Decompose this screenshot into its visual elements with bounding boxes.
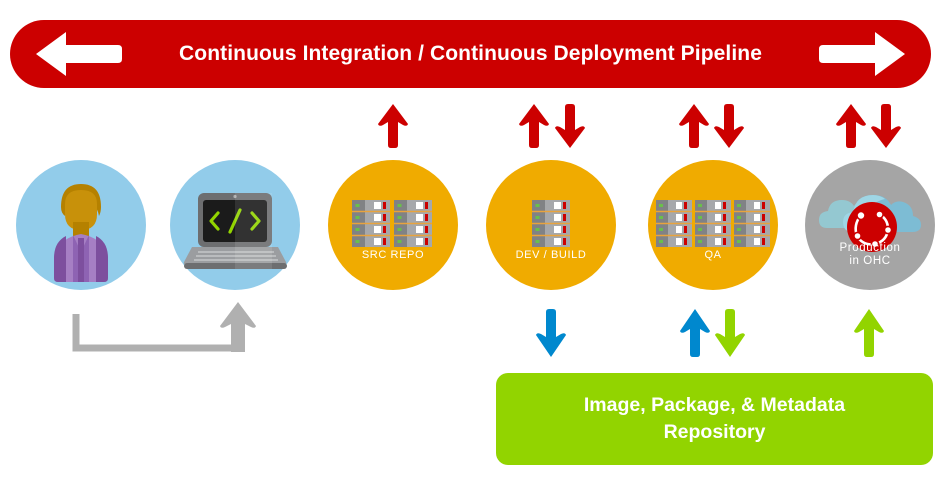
node-src-repo[interactable]: SRC REPO: [328, 160, 458, 290]
node-label-production-line2: in OHC: [805, 255, 935, 268]
node-qa[interactable]: QA: [648, 160, 778, 290]
repository-label-line1: Image, Package, & Metadata: [584, 392, 845, 419]
elbow-arrow-up-icon: [60, 300, 260, 360]
pipeline-arrow-qa-down: [713, 104, 745, 148]
node-dev-build[interactable]: DEV / BUILD: [486, 160, 616, 290]
node-label-production-line1: Production: [805, 242, 935, 255]
pipeline-arrow-dev-build-up: [518, 104, 550, 148]
cicd-pipeline-banner: Continuous Integration / Continuous Depl…: [10, 20, 931, 88]
server-rack-icon: [328, 160, 458, 290]
repo-arrow-production-up: [853, 309, 885, 357]
node-developer[interactable]: [16, 160, 146, 290]
pipeline-arrow-src-repo-up: [377, 104, 409, 148]
node-label-qa: QA: [648, 249, 778, 262]
laptop-code-icon: [170, 160, 300, 290]
cloud-openshift-icon: [805, 160, 935, 290]
banner-title: Continuous Integration / Continuous Depl…: [179, 42, 762, 66]
person-icon: [16, 160, 146, 290]
node-production[interactable]: Production in OHC: [805, 160, 935, 290]
repo-arrow-qa-up: [679, 309, 711, 357]
repository-box[interactable]: Image, Package, & Metadata Repository: [496, 373, 933, 465]
server-rack-icon: [648, 160, 778, 290]
repo-arrow-qa-down: [714, 309, 746, 357]
diagram-canvas: Continuous Integration / Continuous Depl…: [0, 0, 941, 500]
repository-label: Image, Package, & Metadata Repository: [584, 392, 845, 446]
pipeline-arrow-dev-build-down: [554, 104, 586, 148]
repository-label-line2: Repository: [584, 419, 845, 446]
node-label-src-repo: SRC REPO: [328, 249, 458, 262]
pipeline-arrow-qa-up: [678, 104, 710, 148]
node-workstation[interactable]: [170, 160, 300, 290]
node-label-production: Production in OHC: [805, 242, 935, 268]
node-label-dev-build: DEV / BUILD: [486, 249, 616, 262]
pipeline-arrow-production-down: [870, 104, 902, 148]
server-rack-icon: [486, 160, 616, 290]
pipeline-arrow-production-up: [835, 104, 867, 148]
arrow-left-icon: [32, 28, 122, 80]
repo-arrow-dev-build-down: [535, 309, 567, 357]
arrow-right-icon: [819, 28, 909, 80]
